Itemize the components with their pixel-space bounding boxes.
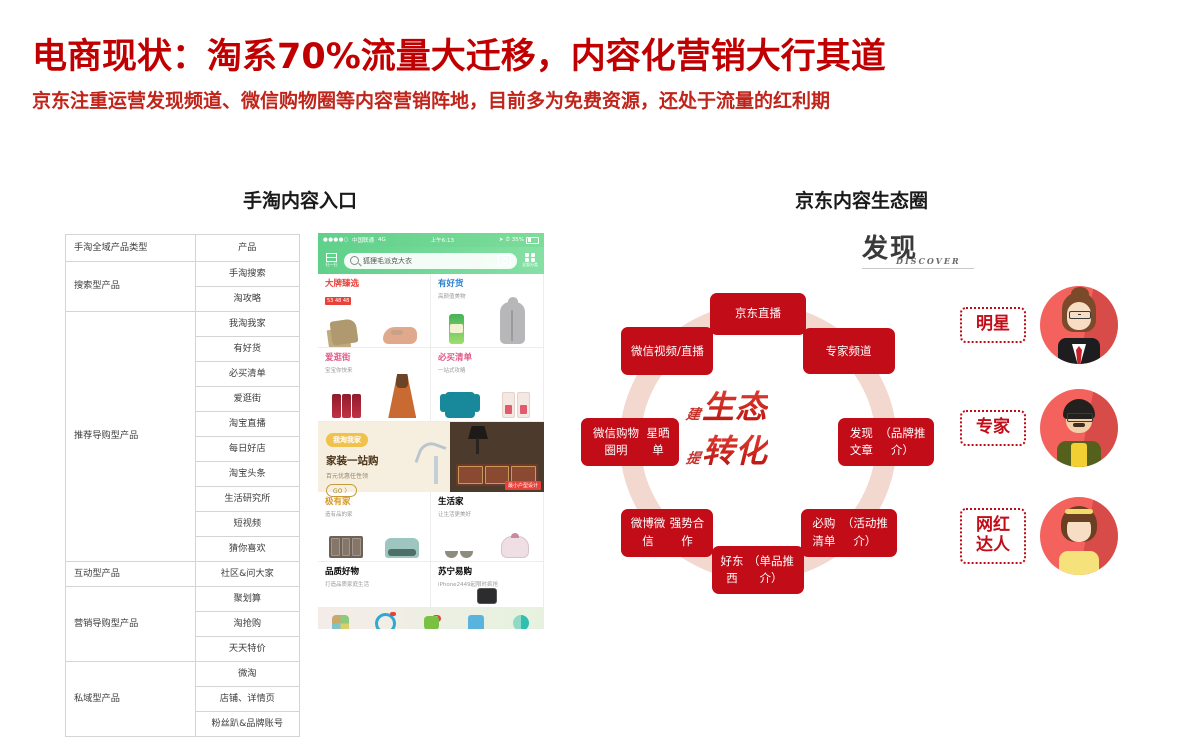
card-row-1: 大牌臻选 53 48 48 有好货 高颜值美物 bbox=[318, 274, 544, 348]
tab-cart[interactable]: 购物车 bbox=[454, 615, 499, 629]
slide-root: 电商现状：淘系70%流量大迁移，内容化营销大行其道 京东注重运营发现频道、微信购… bbox=[0, 0, 1200, 675]
product-bottles bbox=[502, 392, 530, 418]
persona-expert: 专家 bbox=[960, 389, 1118, 467]
card-pinzhihaowu[interactable]: 品质好物 打造品质家庭生活 bbox=[318, 562, 431, 608]
table-product-cell: 粉丝趴&品牌账号 bbox=[195, 712, 299, 737]
card-suning[interactable]: 苏宁易购 iPhone2449起限时疯抢 bbox=[431, 562, 544, 608]
table-product-cell: 淘攻略 bbox=[195, 287, 299, 312]
table-product-cell: 店铺、详情页 bbox=[195, 687, 299, 712]
camera-icon[interactable] bbox=[498, 255, 511, 266]
phone-status-bar: ●●●●○ 中国联通 4G 上午6:13 ➤ ⏱ 35% bbox=[318, 233, 544, 247]
network-label: 4G bbox=[378, 237, 386, 243]
tab-messages[interactable]: 3 消息 bbox=[408, 616, 453, 629]
table-product-cell: 爱逛街 bbox=[195, 387, 299, 412]
left-section-heading: 手淘内容入口 bbox=[243, 186, 357, 213]
card-row-4: 品质好物 打造品质家庭生活 苏宁易购 iPhone2449起限时疯抢 bbox=[318, 562, 544, 608]
logo-en-text: DISCOVER bbox=[896, 256, 961, 266]
banner-right-image: 最小户型设计 bbox=[450, 422, 544, 492]
slogan-large: 生态 bbox=[702, 382, 768, 428]
table-row: 私域型产品微淘 bbox=[66, 662, 300, 687]
search-query: 狐狸毛派克大衣 bbox=[363, 256, 412, 266]
table-product-cell: 淘抢购 bbox=[195, 612, 299, 637]
product-coat bbox=[500, 302, 525, 344]
home-decor-banner[interactable]: 我淘我家 家装一站购 百元优惠任性领 GO 〉 最小户型设计 bbox=[318, 422, 544, 492]
table-product-cell: 生活研究所 bbox=[195, 487, 299, 512]
persona-label-line: 网红 bbox=[971, 516, 1015, 536]
notification-dot bbox=[390, 612, 396, 616]
card-sub: 高颜值美物 bbox=[438, 292, 536, 300]
node-label: （单品推介） bbox=[745, 553, 797, 588]
node-label: 微信视频/直 bbox=[631, 343, 692, 360]
slogan-small: 提 bbox=[684, 448, 702, 472]
node-label: 专家频道 bbox=[826, 343, 872, 360]
location-arrow-icon: ➤ bbox=[499, 237, 504, 243]
card-title: 必买清单 bbox=[438, 354, 536, 363]
card-sub: 打造品质家庭生活 bbox=[325, 580, 423, 588]
persona-label-line: 达人 bbox=[971, 536, 1015, 556]
product-bowls bbox=[445, 551, 473, 558]
expert-avatar bbox=[1040, 389, 1118, 467]
card-title: 生活家 bbox=[438, 498, 536, 507]
slogan-small: 建 bbox=[684, 404, 702, 428]
category-grid-icon[interactable]: 全部分类 bbox=[522, 253, 538, 269]
product-dress bbox=[388, 374, 416, 418]
scan-icon[interactable]: 扫一扫 bbox=[324, 253, 339, 268]
tab-my-taobao[interactable]: 我的淘宝 bbox=[499, 615, 544, 629]
table-product-cell: 微淘 bbox=[195, 662, 299, 687]
card-title: 大牌臻选 bbox=[325, 280, 423, 289]
scan-label: 扫一扫 bbox=[326, 262, 338, 268]
table-category-cell: 搜索型产品 bbox=[66, 262, 196, 312]
product-teapot bbox=[501, 536, 529, 558]
card-aiguangjie[interactable]: 爱逛街 宝宝你快来 bbox=[318, 348, 431, 422]
cart-icon bbox=[468, 615, 484, 629]
product-loafer bbox=[383, 327, 417, 344]
product-cans bbox=[332, 394, 361, 418]
node-label: 京东直播 bbox=[735, 305, 781, 322]
node-discover-article[interactable]: 发现文章（品牌推介） bbox=[838, 418, 934, 466]
alarm-icon: ⏱ bbox=[505, 237, 509, 244]
node-wechat-shopping-circle[interactable]: 微信购物圈明星晒单 bbox=[581, 418, 679, 466]
product-chest bbox=[329, 536, 363, 558]
table-category-cell: 推荐导购型产品 bbox=[66, 312, 196, 562]
card-bimaiqingdan[interactable]: 必买清单 一站式攻略 bbox=[431, 348, 544, 422]
table-product-cell: 手淘搜索 bbox=[195, 262, 299, 287]
node-label: 星晒单 bbox=[644, 425, 672, 460]
card-row-3: 极有家 造有品的家 生活家 让生活更美好 bbox=[318, 492, 544, 562]
card-title: 品质好物 bbox=[325, 568, 423, 577]
product-phone bbox=[477, 588, 497, 604]
right-section-heading: 京东内容生态圈 bbox=[795, 186, 928, 213]
table-product-cell: 猜你喜欢 bbox=[195, 537, 299, 562]
table-row: 营销导购型产品聚划算 bbox=[66, 587, 300, 612]
page-subtitle: 京东注重运营发现频道、微信购物圈等内容营销阵地，目前多为免费资源，还处于流量的红… bbox=[32, 86, 830, 113]
persona-label: 明星 bbox=[960, 307, 1026, 343]
table-product-cell: 必买清单 bbox=[195, 362, 299, 387]
card-row-2: 爱逛街 宝宝你快来 必买清单 一站式攻略 bbox=[318, 348, 544, 422]
carrier-label: 中国联通 bbox=[352, 236, 374, 244]
card-dapai[interactable]: 大牌臻选 53 48 48 bbox=[318, 274, 431, 348]
table-row: 互动型产品社区&问大家 bbox=[66, 562, 300, 587]
table-product-cell: 有好货 bbox=[195, 337, 299, 362]
node-label: （活动推介） bbox=[840, 515, 889, 550]
table-product-cell: 社区&问大家 bbox=[195, 562, 299, 587]
card-title: 有好货 bbox=[438, 280, 536, 289]
center-slogan: 建 生态 提 转化 bbox=[686, 382, 836, 492]
persona-label: 专家 bbox=[960, 410, 1026, 446]
page-title: 电商现状：淘系70%流量大迁移，内容化营销大行其道 bbox=[32, 28, 886, 79]
banner-badge: 我淘我家 bbox=[326, 433, 368, 447]
kol-avatar bbox=[1040, 497, 1118, 575]
node-label: 播 bbox=[692, 343, 704, 360]
persona-kol: 网红达人 bbox=[960, 497, 1118, 575]
node-wechat-video-live[interactable]: 微信视频/直播 bbox=[621, 327, 713, 375]
card-shenghuojia[interactable]: 生活家 让生活更美好 bbox=[431, 492, 544, 562]
node-must-buy-list[interactable]: 必购清单（活动推介） bbox=[801, 509, 897, 557]
node-jd-live[interactable]: 京东直播 bbox=[710, 293, 806, 335]
signal-dots-icon: ●●●●○ bbox=[323, 237, 349, 243]
faucet-illustration bbox=[418, 442, 444, 488]
node-label: 微博微信 bbox=[628, 515, 667, 550]
card-sub: 宝宝你快来 bbox=[325, 366, 423, 374]
discover-logo: 发现 DISCOVER bbox=[862, 228, 982, 276]
card-jiyoujia[interactable]: 极有家 造有品的家 bbox=[318, 492, 431, 562]
node-label: 必购清单 bbox=[808, 515, 841, 550]
cube-icon bbox=[332, 615, 349, 630]
slide-header: 电商现状：淘系70%流量大迁移，内容化营销大行其道 京东注重运营发现频道、微信购… bbox=[0, 0, 1200, 135]
card-sub: 造有品的家 bbox=[325, 510, 423, 518]
category-grid-label: 全部分类 bbox=[522, 262, 538, 268]
node-label: 好东西 bbox=[719, 553, 745, 588]
search-input[interactable]: 狐狸毛派克大衣 bbox=[344, 253, 517, 269]
table-product-cell: 每日好店 bbox=[195, 437, 299, 462]
product-can bbox=[449, 314, 464, 344]
node-weibo-wechat[interactable]: 微博微信强势合作 bbox=[621, 509, 713, 557]
chat-icon bbox=[424, 616, 439, 629]
card-sub: 让生活更美好 bbox=[438, 510, 536, 518]
card-title: 苏宁易购 bbox=[438, 568, 536, 577]
slogan-large: 转化 bbox=[702, 426, 768, 472]
table-header-cell: 手淘全域产品类型 bbox=[66, 235, 196, 262]
star-avatar bbox=[1040, 286, 1118, 364]
slogan-line-1: 建 生态 bbox=[686, 382, 836, 428]
persona-star: 明星 bbox=[960, 286, 1118, 364]
node-label: 微信购物圈明 bbox=[588, 425, 644, 460]
tab-weitao[interactable]: 微淘 bbox=[363, 613, 408, 630]
persona-label-line: 专家 bbox=[971, 418, 1015, 438]
card-title: 爱逛街 bbox=[325, 354, 423, 363]
card-title: 极有家 bbox=[325, 498, 423, 507]
table-product-cell: 聚划算 bbox=[195, 587, 299, 612]
table-product-cell: 淘宝头条 bbox=[195, 462, 299, 487]
leaf-icon bbox=[513, 615, 529, 629]
card-youhuohuo[interactable]: 有好货 高颜值美物 bbox=[431, 274, 544, 348]
table-row: 搜索型产品手淘搜索 bbox=[66, 262, 300, 287]
banner-right-tag: 最小户型设计 bbox=[505, 481, 541, 490]
product-tee bbox=[445, 392, 475, 418]
table-row: 推荐导购型产品我淘我家 bbox=[66, 312, 300, 337]
table-product-cell: 短视频 bbox=[195, 512, 299, 537]
jd-content-ecosystem-diagram: 建 生态 提 转化 京东直播 专家频道 发现文章（品牌推介） 必购清单（活动推介… bbox=[598, 282, 918, 602]
tab-home[interactable]: 首页 bbox=[318, 615, 363, 630]
node-good-things[interactable]: 好东西（单品推介） bbox=[712, 546, 804, 594]
persona-label: 网红达人 bbox=[960, 508, 1026, 563]
slogan-line-2: 提 转化 bbox=[686, 426, 836, 472]
table-header-row: 手淘全域产品类型产品 bbox=[66, 235, 300, 262]
node-label: 发现文章 bbox=[845, 425, 878, 460]
table-category-cell: 营销导购型产品 bbox=[66, 587, 196, 662]
phone-content: 大牌臻选 53 48 48 有好货 高颜值美物 爱逛街 宝宝你快来 必买清单 bbox=[318, 274, 544, 629]
table-header-cell: 产品 bbox=[195, 235, 299, 262]
table-product-cell: 淘宝直播 bbox=[195, 412, 299, 437]
phone-tab-bar: 首页 微淘 3 消息 购物车 我的淘宝 bbox=[318, 608, 544, 629]
logo-underline bbox=[862, 268, 974, 269]
phone-search-bar[interactable]: 扫一扫 狐狸毛派克大衣 全部分类 bbox=[318, 247, 544, 274]
search-icon bbox=[350, 256, 359, 265]
clock-label: 上午6:13 bbox=[386, 236, 499, 244]
product-sofa bbox=[385, 538, 419, 558]
taobao-app-screenshot: ●●●●○ 中国联通 4G 上午6:13 ➤ ⏱ 35% 扫一扫 狐狸毛派克大衣 bbox=[318, 233, 544, 629]
node-label: （品牌推介） bbox=[878, 425, 927, 460]
table-category-cell: 私域型产品 bbox=[66, 662, 196, 737]
battery-icon bbox=[526, 237, 539, 244]
node-label: 强势合作 bbox=[667, 515, 706, 550]
product-boot bbox=[329, 318, 358, 345]
card-sub: iPhone2449起限时疯抢 bbox=[438, 580, 536, 588]
taobao-content-entry-table: 手淘全域产品类型产品搜索型产品手淘搜索淘攻略推荐导购型产品我淘我家有好货必买清单… bbox=[65, 234, 300, 737]
table-product-cell: 我淘我家 bbox=[195, 312, 299, 337]
card-sub: 一站式攻略 bbox=[438, 366, 536, 374]
battery-percent: 35% bbox=[512, 237, 524, 243]
table-category-cell: 互动型产品 bbox=[66, 562, 196, 587]
table-product-cell: 天天特价 bbox=[195, 637, 299, 662]
persona-label-line: 明星 bbox=[971, 315, 1015, 335]
node-expert-channel[interactable]: 专家频道 bbox=[803, 328, 895, 374]
